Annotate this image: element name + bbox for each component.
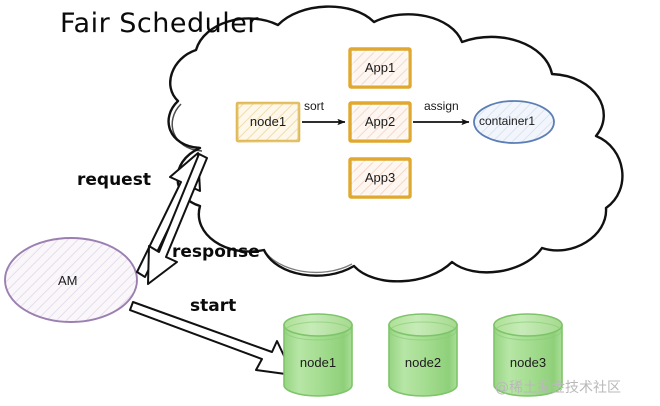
diagram-canvas: Fair Scheduler request response start so… bbox=[0, 0, 660, 406]
node1-box[interactable] bbox=[237, 103, 299, 142]
app3-box[interactable] bbox=[350, 159, 410, 197]
cylinder-node2[interactable] bbox=[389, 314, 457, 396]
app1-box[interactable] bbox=[350, 49, 410, 87]
cylinder-node3[interactable] bbox=[494, 314, 562, 396]
cylinder-node1[interactable] bbox=[284, 314, 352, 396]
diagram-svg bbox=[0, 0, 660, 406]
container1-ellipse[interactable] bbox=[474, 101, 554, 143]
app2-box[interactable] bbox=[350, 103, 410, 141]
start-arrow bbox=[130, 302, 293, 375]
am-ellipse[interactable] bbox=[5, 238, 137, 322]
